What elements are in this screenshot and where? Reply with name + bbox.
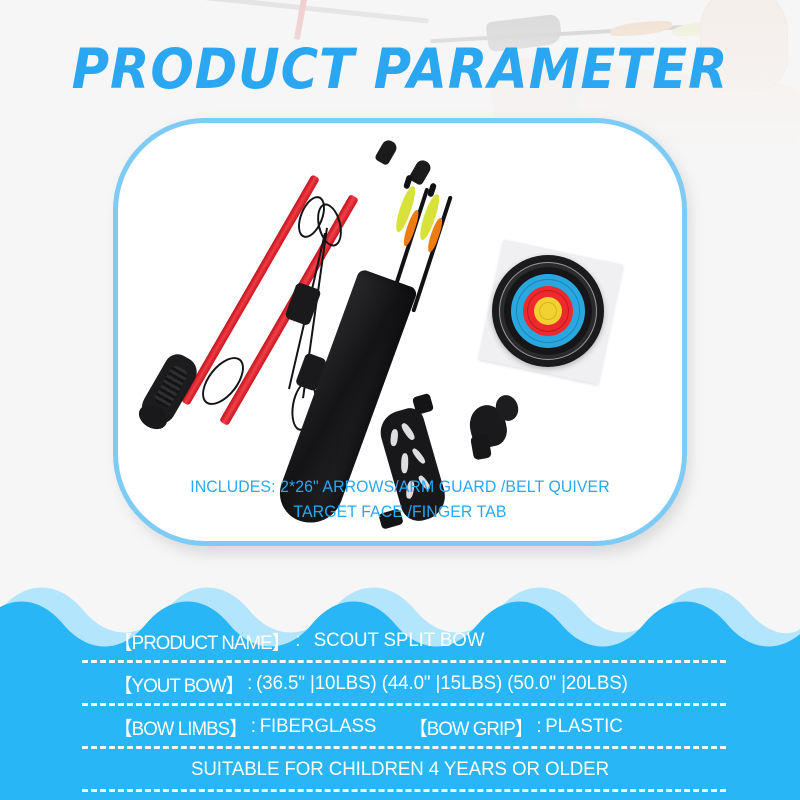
product-photo-card: INCLUDES: 2*26" ARROWS/ARM GUARD /BELT Q…	[113, 118, 687, 546]
includes-caption: INCLUDES: 2*26" ARROWS/ARM GUARD /BELT Q…	[129, 475, 670, 525]
spec-value-yout-bow: (36.5" |10LBS) (44.0" |15LBS) (50.0" |20…	[256, 672, 628, 695]
target-bullseye	[539, 302, 557, 320]
spec-separator: :	[289, 629, 306, 652]
page-title: PRODUCT PARAMETER	[28, 40, 772, 98]
quiver-belt-loop	[284, 282, 321, 327]
spec-value-age-note: SUITABLE FOR CHILDREN 4 YEARS OR OLDER	[191, 758, 609, 781]
spec-label-bow-grip: 【BOW GRIP】	[376, 712, 532, 741]
spec-row-bow-limbs-grip: 【BOW LIMBS】 : FIBERGLASS 【BOW GRIP】 : PL…	[16, 706, 784, 746]
spec-label-yout-bow: 【YOUT BOW】	[114, 669, 243, 698]
target-ring-red	[523, 286, 573, 336]
spec-row-product-name: 【PRODUCT NAME】 : SCOUT SPLIT BOW	[16, 620, 784, 660]
spec-table: 【PRODUCT NAME】 : SCOUT SPLIT BOW 【YOUT B…	[0, 620, 800, 792]
spec-label-product-name: 【PRODUCT NAME】	[114, 626, 290, 655]
arm-guard-vent	[400, 422, 416, 442]
spec-value-product-name: SCOUT SPLIT BOW	[306, 629, 484, 652]
spec-row-yout-bow: 【YOUT BOW】 : (36.5" |10LBS) (44.0" |15LB…	[16, 663, 784, 703]
target-ring-yellow	[534, 297, 562, 325]
limb-tip-icon	[374, 138, 399, 166]
arm-guard-vent	[401, 453, 409, 473]
spec-separator: :	[532, 715, 545, 738]
target-ring-blue	[511, 274, 585, 348]
target-ring-blue-inner	[516, 279, 580, 343]
limb-tip-icon	[408, 158, 433, 186]
spec-row-age-note: SUITABLE FOR CHILDREN 4 YEARS OR OLDER	[16, 749, 784, 789]
product-parameter-infographic: PRODUCT PARAMETER	[0, 0, 800, 800]
arm-guard-vent	[390, 429, 399, 447]
spec-label-bow-limbs: 【BOW LIMBS】	[114, 712, 247, 741]
spec-separator: :	[243, 672, 256, 695]
finger-tab-stem	[470, 434, 492, 461]
arm-guard-vent	[411, 447, 427, 465]
target-ring-red-inner	[527, 290, 569, 332]
target-ring-outline	[499, 262, 597, 360]
includes-line-2: TARGET FACE /FINGER TAB	[129, 500, 670, 525]
includes-line-1: INCLUDES: 2*26" ARROWS/ARM GUARD /BELT Q…	[129, 475, 670, 500]
spec-value-bow-limbs: FIBERGLASS	[260, 715, 377, 738]
spec-divider	[82, 789, 726, 792]
spec-separator: :	[247, 715, 260, 738]
target-face-icon	[492, 255, 604, 367]
spec-value-bow-grip: PLASTIC	[545, 715, 622, 738]
target-ring-black	[504, 267, 592, 355]
